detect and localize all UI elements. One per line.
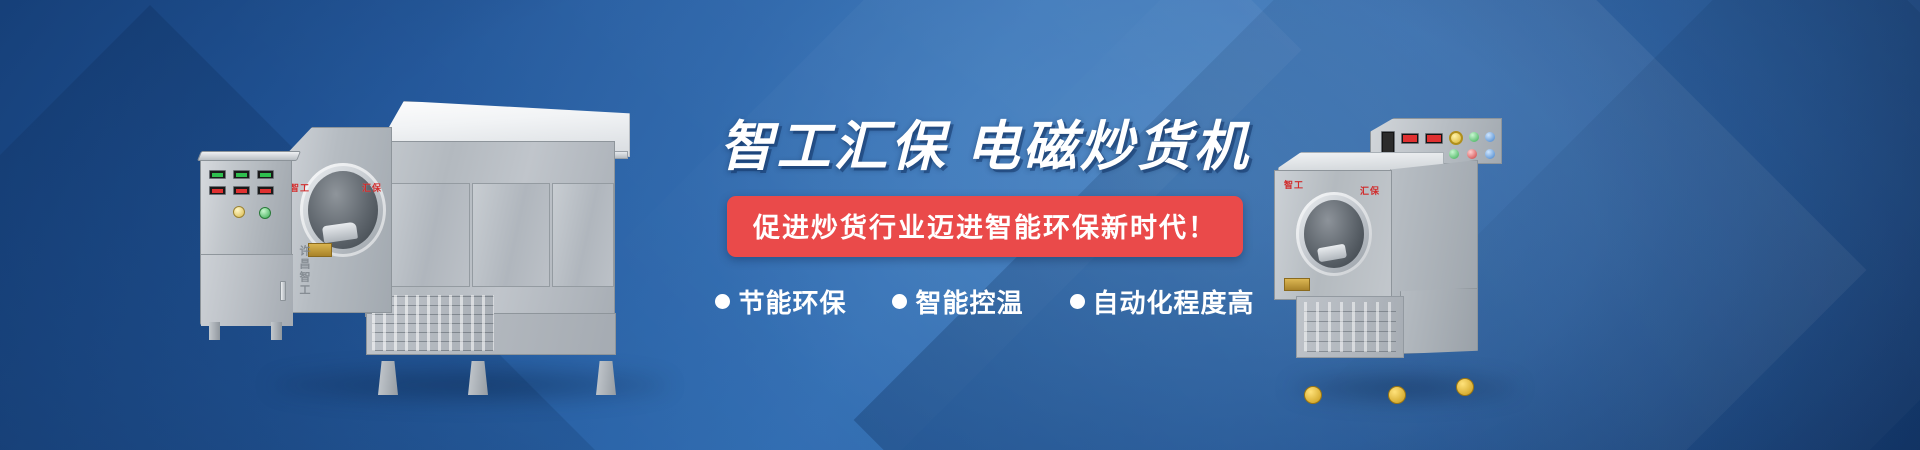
machine-left-control-face: [207, 166, 275, 232]
machine-left-foot-2: [468, 361, 488, 395]
display-readout-5: [233, 186, 250, 195]
feature-label-3: 自动化程度高: [1093, 283, 1255, 320]
ribbon-wrapper: 促进炒货行业迈进智能环保新时代！: [705, 196, 1265, 257]
display-readout-3: [257, 170, 274, 179]
selector-knob-icon: [233, 206, 245, 218]
machine-left-brand-mark-right: 汇保: [362, 181, 382, 194]
machine-right-drum-port: [1296, 192, 1372, 276]
feature-item-1: 节能环保: [715, 283, 846, 320]
display-readout-2: [233, 170, 250, 179]
cabinet-handle-icon: [280, 281, 286, 301]
indicator-lamp-green-1: [1469, 132, 1479, 142]
bullet-dot-icon: [715, 294, 730, 309]
machine-left-brand-mark-left: 智工: [290, 181, 310, 194]
indicator-lamp-green-2: [1449, 149, 1459, 159]
feature-list: 节能环保 智能控温 自动化程度高: [705, 283, 1265, 320]
indicator-lamp-blue-2: [1485, 149, 1495, 159]
banner-copy: 智工汇保 电磁炒货机 促进炒货行业迈进智能环保新时代！ 节能环保 智能控温 自动…: [705, 118, 1265, 320]
machine-left-cabinet-label: 许昌智工: [296, 245, 312, 297]
display-readout-b: [1425, 133, 1443, 144]
machine-left-cabinet-lower: [201, 254, 293, 326]
feature-item-2: 智能控温: [892, 283, 1023, 320]
machine-right-base-vent: [1296, 296, 1404, 358]
emergency-stop-icon: [1449, 131, 1463, 145]
machine-left-cabinet-leg-1: [209, 322, 220, 340]
caster-wheel-1: [1304, 386, 1322, 404]
caster-wheel-2: [1388, 386, 1406, 404]
machine-left-cabinet-leg-2: [271, 322, 282, 340]
feature-label-1: 节能环保: [738, 283, 846, 320]
machine-right-brand-mark-right: 汇保: [1360, 184, 1380, 197]
machine-left-door-1: [385, 183, 470, 287]
page-title: 智工汇保 电磁炒货机: [705, 118, 1265, 176]
bullet-dot-icon: [892, 294, 907, 309]
machine-left-foot-3: [596, 361, 616, 395]
machine-left-door-2: [472, 183, 550, 287]
display-readout-4: [209, 186, 226, 195]
machine-right-lower-side: [1400, 288, 1478, 354]
indicator-lamp-icon: [259, 207, 271, 219]
display-meter-1: [1381, 131, 1395, 155]
feature-label-2: 智能控温: [915, 283, 1023, 320]
caster-wheel-3: [1456, 378, 1474, 396]
machine-left-control-cabinet: [200, 157, 292, 325]
machine-right-vent-slits: [1304, 302, 1396, 352]
machine-right-brand-mark-left: 智工: [1284, 178, 1304, 191]
bullet-dot-icon: [1070, 294, 1085, 309]
indicator-lamp-blue-1: [1485, 132, 1495, 142]
feature-item-3: 自动化程度高: [1070, 283, 1255, 320]
machine-left-image: 智工 汇保 许昌智工: [200, 95, 680, 395]
machine-right-image: 智工 汇保: [1270, 100, 1530, 400]
display-readout-6: [257, 186, 274, 195]
display-readout-1: [209, 170, 226, 179]
indicator-lamp-red-1: [1467, 149, 1477, 159]
machine-left-door-3: [552, 183, 614, 287]
machine-right-nameplate: [1284, 278, 1310, 291]
promo-banner: 智工 汇保 许昌智工: [0, 0, 1920, 450]
machine-left-foot-1: [378, 361, 398, 395]
machine-right-drum-interior: [1304, 200, 1364, 268]
display-readout-a: [1401, 133, 1419, 144]
tagline-ribbon: 促进炒货行业迈进智能环保新时代！: [727, 196, 1243, 257]
machine-left-cabinet-top: [197, 151, 301, 161]
